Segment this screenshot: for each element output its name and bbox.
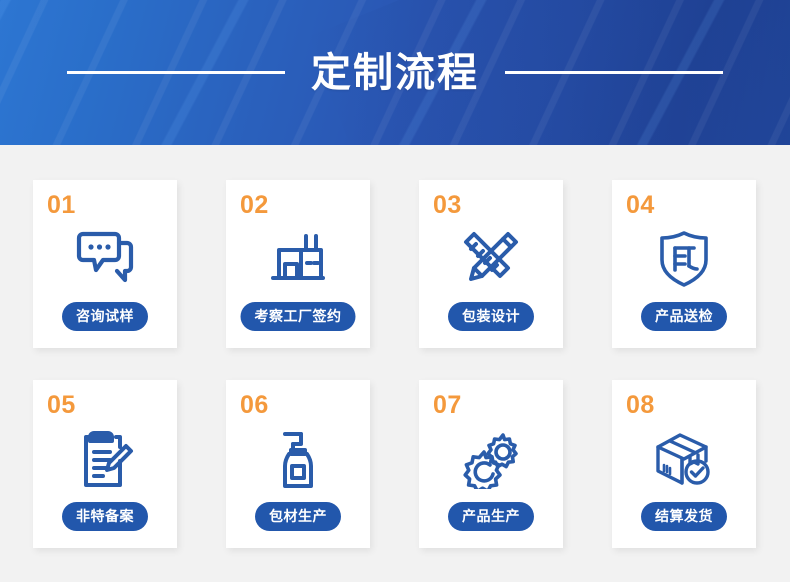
step-label-button[interactable]: 非特备案 [62,502,148,531]
step-label-button[interactable]: 包装设计 [448,302,534,331]
page-title: 定制流程 [311,53,479,93]
process-step-card[interactable]: 02 考察工厂签约 [226,180,370,348]
title-rule-left [67,71,285,74]
page-root: 定制流程 01 咨询试样 02 [0,0,790,582]
step-label-button[interactable]: 包材生产 [255,502,341,531]
chat-bubbles-icon [69,223,141,295]
clipboard-pencil-icon [69,423,141,495]
step-label-button[interactable]: 咨询试样 [62,302,148,331]
step-number: 02 [240,193,269,218]
step-number: 06 [240,393,269,418]
gears-icon [455,423,527,495]
process-step-card: 03 包装设计 [419,180,563,348]
quality-shield-icon [648,223,720,295]
process-step-card[interactable]: 06 包材生产 [226,380,370,548]
process-step-card[interactable]: 01 咨询试样 [33,180,177,348]
pump-bottle-icon [262,423,334,495]
step-number: 03 [433,193,462,218]
header-banner: 定制流程 [0,0,790,145]
step-number: 04 [626,193,655,218]
box-check-icon [648,423,720,495]
step-number: 07 [433,393,462,418]
title-rule-right [505,71,723,74]
process-step-card[interactable]: 08 结算发货 [612,380,756,548]
factory-icon [262,223,334,295]
step-label-button[interactable]: 结算发货 [641,502,727,531]
step-label-button[interactable]: 产品生产 [448,502,534,531]
process-step-card[interactable]: 04 产品送检 [612,180,756,348]
process-step-card[interactable]: 07 产品生产 [419,380,563,548]
process-step-grid: 01 咨询试样 02 [33,180,757,548]
step-label-button[interactable]: 考察工厂签约 [241,302,356,331]
step-number: 05 [47,393,76,418]
step-number: 08 [626,393,655,418]
step-number: 01 [47,193,76,218]
step-label-button[interactable]: 产品送检 [641,302,727,331]
pencil-ruler-icon [455,223,527,295]
process-step-card[interactable]: 05 非特备案 [33,380,177,548]
